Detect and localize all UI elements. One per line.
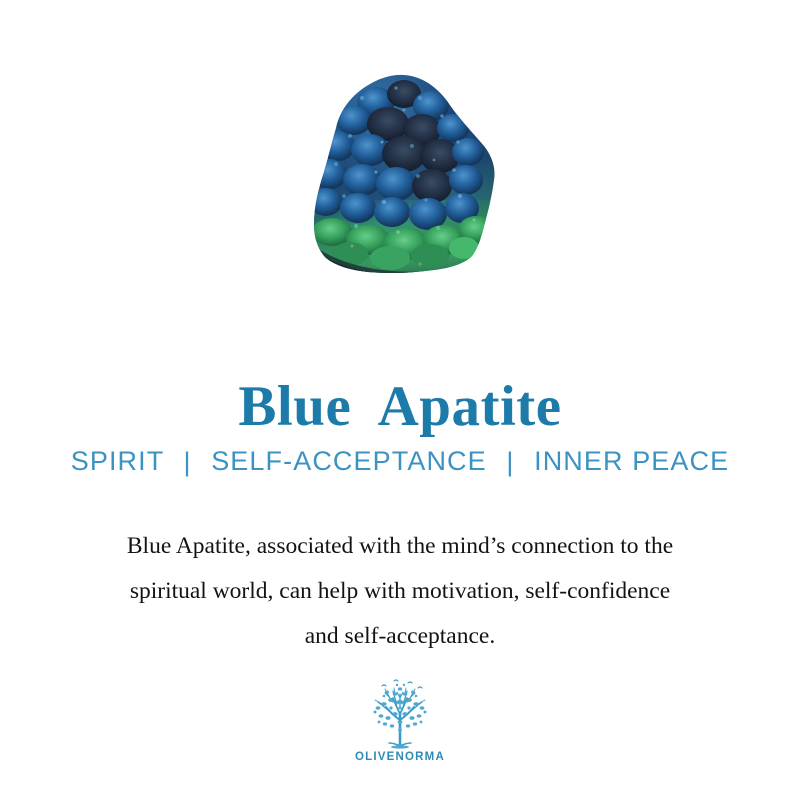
- blue-apatite-specimen-image: [292, 50, 508, 290]
- blue-apatite-info-card: Blue Apatite SPIRIT | SELF-ACCEPTANCE | …: [0, 0, 800, 800]
- tree-base: [391, 745, 409, 748]
- keyword-separator-1: |: [172, 445, 202, 479]
- specimen-image-container: [0, 38, 800, 290]
- specimen-lobes-upper: [310, 80, 484, 230]
- description-line-2: spiritual world, can help with motivatio…: [36, 569, 764, 614]
- keyword-self-acceptance: SELF-ACCEPTANCE: [211, 446, 487, 476]
- specimen-body: [292, 50, 508, 290]
- brand-logo: OLIVENORMA: [0, 674, 800, 764]
- page-title: Blue Apatite: [0, 374, 800, 440]
- keyword-list: SPIRIT | SELF-ACCEPTANCE | INNER PEACE: [0, 444, 800, 478]
- description-line-1: Blue Apatite, associated with the mind’s…: [36, 524, 764, 569]
- tree-of-life-icon: [364, 674, 436, 750]
- keyword-inner-peace: INNER PEACE: [534, 446, 729, 476]
- description-text: Blue Apatite, associated with the mind’s…: [36, 524, 764, 659]
- keyword-spirit: SPIRIT: [71, 446, 164, 476]
- bird-icon: [382, 680, 422, 688]
- description-line-3: and self-acceptance.: [36, 614, 764, 659]
- brand-wordmark: OLIVENORMA: [355, 751, 445, 764]
- keyword-separator-2: |: [495, 445, 525, 479]
